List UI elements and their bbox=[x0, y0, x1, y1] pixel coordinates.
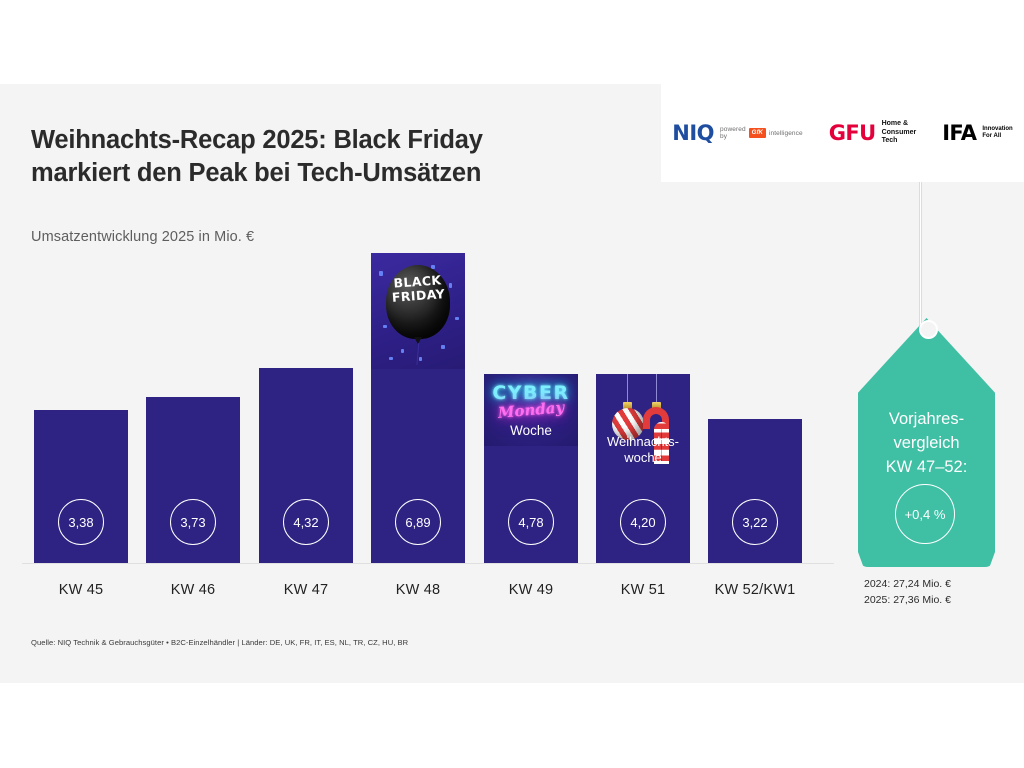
ifa-tagline-line2: For All bbox=[982, 133, 1012, 141]
chart-baseline bbox=[22, 563, 834, 564]
xaxis-label-kw45: KW 45 bbox=[34, 582, 128, 598]
tag-caption-line2: vergleich bbox=[858, 432, 995, 456]
chart-subtitle: Umsatzentwicklung 2025 in Mio. € bbox=[31, 229, 254, 245]
bar-value-kw48: 6,89 bbox=[395, 499, 441, 545]
niq-tagline: powered by GfK intelligence bbox=[720, 126, 803, 140]
tag-footnote-2024: 2024: 27,24 Mio. € bbox=[864, 577, 951, 593]
xaxis-label-kw48: KW 48 bbox=[371, 582, 465, 598]
bar-value-kw52: 3,22 bbox=[732, 499, 778, 545]
cyber-monday-woche-text: Woche bbox=[484, 423, 578, 438]
page-title-line2: markiert den Peak bei Tech-Umsätzen bbox=[31, 157, 631, 190]
tag-grommet-icon bbox=[919, 320, 938, 339]
gfu-wordmark: GFU bbox=[829, 121, 876, 145]
cyber-monday-artwork: CYBER Monday Woche bbox=[484, 374, 578, 446]
ifa-logo: IFA Innovation For All bbox=[942, 121, 1013, 145]
tag-caption-line1: Vorjahres- bbox=[858, 408, 995, 432]
gfu-tagline-line2: Consumer Tech bbox=[882, 129, 917, 147]
niq-logo: NIQ powered by GfK intelligence bbox=[672, 121, 802, 145]
tag-footnote-2025: 2025: 27,36 Mio. € bbox=[864, 593, 951, 609]
tag-footnote: 2024: 27,24 Mio. € 2025: 27,36 Mio. € bbox=[864, 577, 951, 609]
page-title: Weihnachts-Recap 2025: Black Friday mark… bbox=[31, 124, 631, 190]
gfk-badge: GfK bbox=[749, 128, 766, 138]
niq-intelligence-text: intelligence bbox=[769, 130, 803, 137]
bar-value-kw45: 3,38 bbox=[58, 499, 104, 545]
black-friday-text: BLACK FRIDAY bbox=[371, 272, 465, 306]
tag-caption-line3: KW 47–52: bbox=[858, 456, 995, 480]
gfu-tagline-line1: Home & bbox=[882, 120, 917, 129]
bar-value-kw47: 4,32 bbox=[283, 499, 329, 545]
source-note: Quelle: NIQ Technik & Gebrauchsgüter • B… bbox=[31, 638, 408, 647]
bar-kw48[interactable]: BLACK FRIDAY 6,89 bbox=[371, 253, 465, 563]
weihnachtswoche-label: Weihnachts- woche bbox=[596, 434, 690, 464]
xaxis-label-kw47: KW 47 bbox=[259, 582, 353, 598]
xaxis-label-kw51: KW 51 bbox=[596, 582, 690, 598]
xaxis-label-kw46: KW 46 bbox=[146, 582, 240, 598]
tag-caption: Vorjahres- vergleich KW 47–52: bbox=[858, 408, 995, 480]
ifa-tagline-line1: Innovation bbox=[982, 126, 1012, 134]
bar-kw45[interactable]: 3,38 bbox=[34, 410, 128, 563]
ifa-tagline: Innovation For All bbox=[982, 126, 1012, 141]
niq-wordmark: NIQ bbox=[672, 121, 714, 145]
bar-value-kw51: 4,20 bbox=[620, 499, 666, 545]
weihnachtswoche-artwork: Weihnachts- woche bbox=[596, 374, 690, 464]
bar-value-kw46: 3,73 bbox=[170, 499, 216, 545]
balloon-string bbox=[416, 343, 419, 365]
niq-powered-text: powered by bbox=[720, 126, 746, 140]
bar-kw47[interactable]: 4,32 bbox=[259, 368, 353, 563]
weihnachtswoche-line2: woche bbox=[596, 450, 690, 464]
gfu-logo: GFU Home & Consumer Tech bbox=[829, 120, 916, 146]
tag-change-badge: +0,4 % bbox=[895, 484, 955, 544]
black-friday-artwork: BLACK FRIDAY bbox=[371, 253, 465, 369]
page-title-line1: Weihnachts-Recap 2025: Black Friday bbox=[31, 124, 631, 157]
gfu-tagline: Home & Consumer Tech bbox=[882, 120, 917, 146]
xaxis-label-kw52: KW 52/KW1 bbox=[703, 582, 807, 598]
ifa-wordmark: IFA bbox=[942, 121, 976, 145]
bar-kw46[interactable]: 3,73 bbox=[146, 397, 240, 563]
bar-value-kw49: 4,78 bbox=[508, 499, 554, 545]
weihnachtswoche-line1: Weihnachts- bbox=[596, 434, 690, 450]
bar-kw51[interactable]: Weihnachts- woche 4,20 bbox=[596, 374, 690, 563]
tag-hanging-string bbox=[919, 182, 922, 330]
infographic-canvas: NIQ powered by GfK intelligence GFU Home… bbox=[0, 0, 1024, 768]
bar-kw52[interactable]: 3,22 bbox=[708, 419, 802, 563]
partner-logo-bar: NIQ powered by GfK intelligence GFU Home… bbox=[661, 84, 1024, 182]
xaxis-label-kw49: KW 49 bbox=[484, 582, 578, 598]
bar-kw49[interactable]: CYBER Monday Woche 4,78 bbox=[484, 374, 578, 563]
